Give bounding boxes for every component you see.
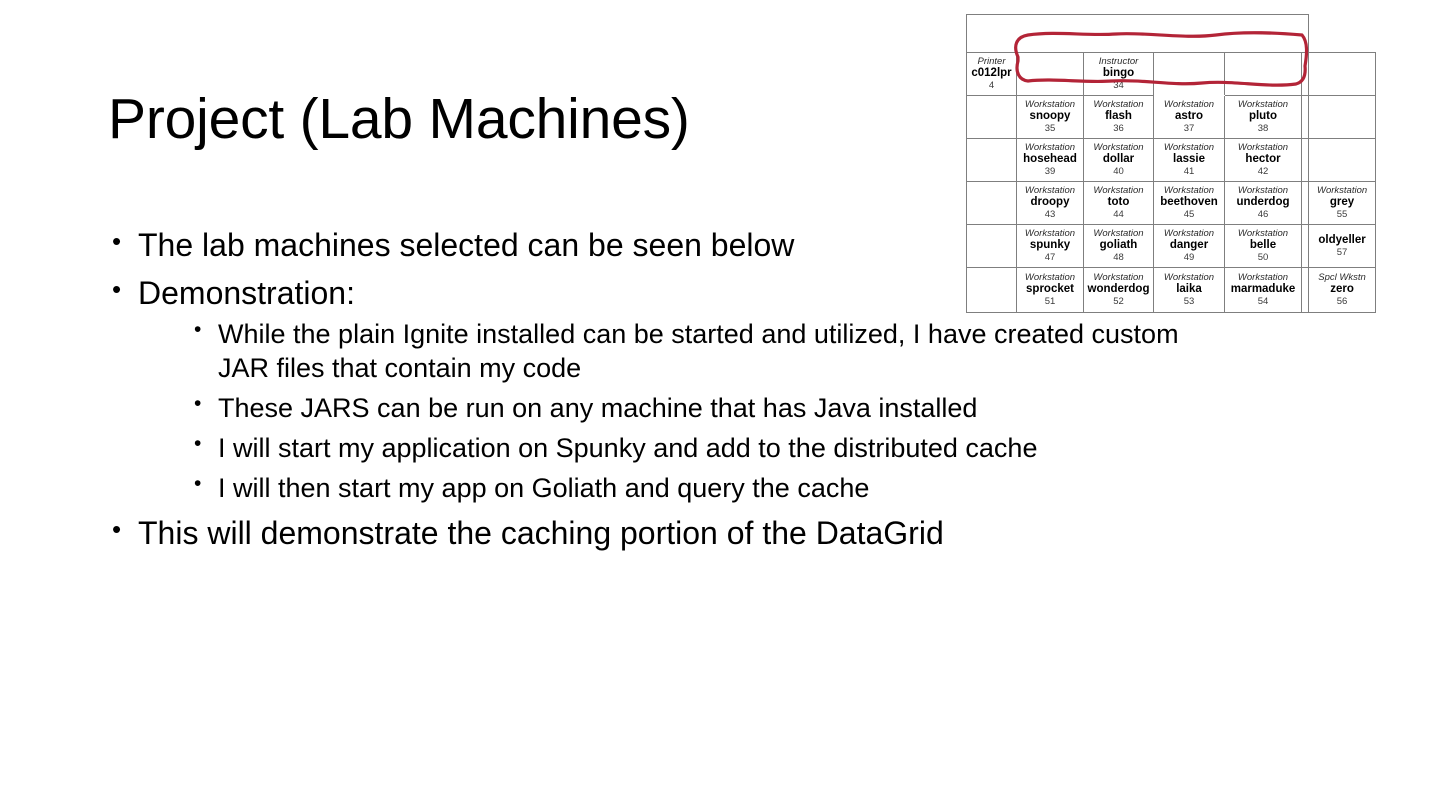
machine-type-label: Workstation bbox=[1226, 185, 1300, 196]
machine-cell[interactable]: Spcl Wkstnzero56 bbox=[1309, 268, 1376, 313]
machine-name: hector bbox=[1226, 153, 1300, 166]
lab-machine-map: Printerc012lpr4Instructorbingo34Workstat… bbox=[966, 14, 1373, 313]
machine-cell-content: Workstationflash36 bbox=[1084, 98, 1153, 136]
machine-cell-content: Workstationdroopy43 bbox=[1017, 184, 1083, 222]
machine-type-label: Workstation bbox=[1310, 185, 1374, 196]
machine-type-label: Workstation bbox=[1155, 185, 1223, 196]
machine-name: sprocket bbox=[1018, 283, 1082, 296]
machine-number: 57 bbox=[1310, 247, 1374, 258]
machine-cell-content: Workstationbeethoven45 bbox=[1154, 184, 1224, 222]
machine-cell-content: oldyeller57 bbox=[1309, 233, 1375, 260]
bullet-text: These JARS can be run on any machine tha… bbox=[218, 393, 977, 423]
machine-type-label: Workstation bbox=[1155, 228, 1223, 239]
machine-number: 39 bbox=[1018, 166, 1082, 177]
machine-name: zero bbox=[1310, 283, 1374, 296]
lab-machine-table-body: Printerc012lpr4Instructorbingo34Workstat… bbox=[967, 15, 1376, 313]
table-row: Workstationhosehead39Workstationdollar40… bbox=[967, 139, 1376, 182]
machine-cell[interactable]: Workstationastro37 bbox=[1154, 96, 1225, 139]
empty-cell bbox=[1302, 53, 1309, 96]
table-row: Printerc012lpr4Instructorbingo34 bbox=[967, 53, 1376, 96]
machine-number: 53 bbox=[1155, 296, 1223, 307]
table-row: Workstationsprocket51Workstationwonderdo… bbox=[967, 268, 1376, 313]
machine-type-label: Workstation bbox=[1085, 142, 1152, 153]
machine-type-label: Workstation bbox=[1018, 228, 1082, 239]
table-row: Workstationsnoopy35Workstationflash36Wor… bbox=[967, 96, 1376, 139]
machine-name: beethoven bbox=[1155, 196, 1223, 209]
empty-cell bbox=[1302, 96, 1309, 139]
machine-type-label: Workstation bbox=[1155, 272, 1223, 283]
machine-cell-content: Workstationhector42 bbox=[1225, 141, 1301, 179]
machine-type-label: Workstation bbox=[1018, 272, 1082, 283]
machine-type-label: Workstation bbox=[1085, 272, 1152, 283]
machine-number: 36 bbox=[1085, 123, 1152, 134]
page-title: Project (Lab Machines) bbox=[108, 88, 690, 152]
machine-cell[interactable]: Workstationsnoopy35 bbox=[1017, 96, 1084, 139]
machine-cell[interactable]: Workstationhosehead39 bbox=[1017, 139, 1084, 182]
machine-name: toto bbox=[1085, 196, 1152, 209]
machine-name: flash bbox=[1085, 110, 1152, 123]
bullet-text: While the plain Ignite installed can be … bbox=[218, 319, 1179, 383]
machine-type-label: Workstation bbox=[1085, 185, 1152, 196]
machine-cell-content: Workstationgoliath48 bbox=[1084, 227, 1153, 265]
machine-cell[interactable]: Workstationgoliath48 bbox=[1084, 225, 1154, 268]
machine-type-label: Workstation bbox=[1018, 142, 1082, 153]
machine-number: 50 bbox=[1226, 252, 1300, 263]
machine-name: underdog bbox=[1226, 196, 1300, 209]
machine-name: hosehead bbox=[1018, 153, 1082, 166]
machine-cell[interactable]: oldyeller57 bbox=[1309, 225, 1376, 268]
machine-cell[interactable]: Workstationunderdog46 bbox=[1225, 182, 1302, 225]
machine-cell[interactable]: Workstationwonderdog52 bbox=[1084, 268, 1154, 313]
empty-cell bbox=[967, 182, 1017, 225]
machine-cell-content: Workstationspunky47 bbox=[1017, 227, 1083, 265]
machine-number: 34 bbox=[1085, 80, 1152, 91]
empty-cell bbox=[967, 15, 1309, 53]
machine-cell[interactable]: Workstationdanger49 bbox=[1154, 225, 1225, 268]
machine-type-label: Spcl Wkstn bbox=[1310, 272, 1374, 283]
machine-name: droopy bbox=[1018, 196, 1082, 209]
machine-cell-content: Workstationastro37 bbox=[1154, 98, 1224, 136]
table-row bbox=[967, 15, 1376, 53]
machine-cell[interactable]: Workstationmarmaduke54 bbox=[1225, 268, 1302, 313]
machine-cell-content: Workstationsprocket51 bbox=[1017, 271, 1083, 309]
machine-type-label: Workstation bbox=[1226, 272, 1300, 283]
empty-cell bbox=[1017, 53, 1084, 96]
empty-cell bbox=[967, 225, 1017, 268]
machine-number: 51 bbox=[1018, 296, 1082, 307]
machine-number: 45 bbox=[1155, 209, 1223, 220]
machine-cell[interactable]: Printerc012lpr4 bbox=[967, 53, 1017, 96]
list-item: I will then start my app on Goliath and … bbox=[190, 471, 1308, 505]
machine-type-label: Workstation bbox=[1018, 99, 1082, 110]
machine-cell-content: Workstationtoto44 bbox=[1084, 184, 1153, 222]
machine-cell[interactable]: Workstationlassie41 bbox=[1154, 139, 1225, 182]
machine-type-label: Workstation bbox=[1085, 99, 1152, 110]
machine-name: danger bbox=[1155, 239, 1223, 252]
machine-number: 55 bbox=[1310, 209, 1374, 220]
machine-number: 52 bbox=[1085, 296, 1152, 307]
machine-type-label: Workstation bbox=[1085, 228, 1152, 239]
machine-number: 44 bbox=[1085, 209, 1152, 220]
machine-cell[interactable]: Workstationpluto38 bbox=[1225, 96, 1302, 139]
machine-name: snoopy bbox=[1018, 110, 1082, 123]
machine-number: 38 bbox=[1226, 123, 1300, 134]
empty-cell bbox=[967, 268, 1017, 313]
machine-number: 56 bbox=[1310, 296, 1374, 307]
table-row: Workstationspunky47Workstationgoliath48W… bbox=[967, 225, 1376, 268]
table-row: Workstationdroopy43Workstationtoto44Work… bbox=[967, 182, 1376, 225]
machine-number: 46 bbox=[1226, 209, 1300, 220]
lab-machine-table: Printerc012lpr4Instructorbingo34Workstat… bbox=[966, 14, 1376, 313]
machine-cell-content: Workstationunderdog46 bbox=[1225, 184, 1301, 222]
machine-cell-content: Workstationhosehead39 bbox=[1017, 141, 1083, 179]
machine-cell[interactable]: Workstationbeethoven45 bbox=[1154, 182, 1225, 225]
machine-cell-content: Workstationbelle50 bbox=[1225, 227, 1301, 265]
list-item: This will demonstrate the caching portio… bbox=[108, 514, 1308, 553]
empty-cell bbox=[1302, 139, 1309, 182]
machine-name: dollar bbox=[1085, 153, 1152, 166]
machine-name: wonderdog bbox=[1085, 283, 1152, 296]
machine-cell-content: Workstationlaika53 bbox=[1154, 271, 1224, 309]
machine-name: lassie bbox=[1155, 153, 1223, 166]
machine-name: c012lpr bbox=[968, 67, 1015, 80]
machine-cell[interactable]: Workstationgrey55 bbox=[1309, 182, 1376, 225]
machine-type-label: Workstation bbox=[1155, 99, 1223, 110]
machine-cell[interactable]: Workstationtoto44 bbox=[1084, 182, 1154, 225]
machine-cell[interactable]: Workstationhector42 bbox=[1225, 139, 1302, 182]
machine-cell[interactable]: Workstationdollar40 bbox=[1084, 139, 1154, 182]
machine-name: belle bbox=[1226, 239, 1300, 252]
machine-name: spunky bbox=[1018, 239, 1082, 252]
empty-cell bbox=[1302, 268, 1309, 313]
machine-cell[interactable]: Workstationflash36 bbox=[1084, 96, 1154, 139]
bullet-text: I will then start my app on Goliath and … bbox=[218, 473, 869, 503]
empty-cell bbox=[1302, 182, 1309, 225]
bullet-text: I will start my application on Spunky an… bbox=[218, 433, 1037, 463]
machine-number: 54 bbox=[1226, 296, 1300, 307]
bullet-list-level2: While the plain Ignite installed can be … bbox=[138, 317, 1308, 505]
machine-cell-content: Workstationsnoopy35 bbox=[1017, 98, 1083, 136]
machine-cell-content: Workstationmarmaduke54 bbox=[1225, 271, 1301, 309]
machine-cell[interactable]: Workstationbelle50 bbox=[1225, 225, 1302, 268]
machine-cell[interactable]: Workstationlaika53 bbox=[1154, 268, 1225, 313]
machine-type-label: Printer bbox=[968, 56, 1015, 67]
machine-type-label: Workstation bbox=[1226, 142, 1300, 153]
machine-number: 35 bbox=[1018, 123, 1082, 134]
machine-type-label: Workstation bbox=[1018, 185, 1082, 196]
machine-type-label: Workstation bbox=[1226, 99, 1300, 110]
list-item: These JARS can be run on any machine tha… bbox=[190, 391, 1308, 425]
bullet-text: This will demonstrate the caching portio… bbox=[138, 514, 1308, 553]
empty-cell bbox=[1309, 96, 1376, 139]
machine-number: 48 bbox=[1085, 252, 1152, 263]
machine-number: 41 bbox=[1155, 166, 1223, 177]
machine-cell[interactable]: Instructorbingo34 bbox=[1084, 53, 1154, 96]
empty-cell bbox=[1309, 139, 1376, 182]
machine-cell[interactable]: Workstationdroopy43 bbox=[1017, 182, 1084, 225]
machine-cell-content: Workstationgrey55 bbox=[1309, 184, 1375, 222]
empty-cell bbox=[967, 96, 1017, 139]
machine-type-label: Instructor bbox=[1085, 56, 1152, 67]
machine-number: 37 bbox=[1155, 123, 1223, 134]
machine-cell-content: Workstationdanger49 bbox=[1154, 227, 1224, 265]
empty-cell bbox=[1225, 53, 1302, 96]
machine-name: grey bbox=[1310, 196, 1374, 209]
machine-name: marmaduke bbox=[1226, 283, 1300, 296]
machine-cell-content: Spcl Wkstnzero56 bbox=[1309, 271, 1375, 309]
machine-cell[interactable]: Workstationspunky47 bbox=[1017, 225, 1084, 268]
machine-cell-content: Workstationpluto38 bbox=[1225, 98, 1301, 136]
machine-name: goliath bbox=[1085, 239, 1152, 252]
machine-name: oldyeller bbox=[1310, 234, 1374, 247]
machine-number: 42 bbox=[1226, 166, 1300, 177]
machine-name: pluto bbox=[1226, 110, 1300, 123]
list-item: I will start my application on Spunky an… bbox=[190, 431, 1308, 465]
empty-cell bbox=[967, 139, 1017, 182]
machine-cell-content: Instructorbingo34 bbox=[1084, 55, 1153, 93]
machine-number: 47 bbox=[1018, 252, 1082, 263]
machine-number: 4 bbox=[968, 80, 1015, 91]
machine-number: 49 bbox=[1155, 252, 1223, 263]
empty-cell bbox=[1302, 225, 1309, 268]
machine-type-label: Workstation bbox=[1226, 228, 1300, 239]
machine-cell-content: Printerc012lpr4 bbox=[967, 55, 1016, 93]
list-item: While the plain Ignite installed can be … bbox=[190, 317, 1235, 385]
machine-cell-content: Workstationlassie41 bbox=[1154, 141, 1224, 179]
machine-name: laika bbox=[1155, 283, 1223, 296]
machine-name: astro bbox=[1155, 110, 1223, 123]
machine-cell-content: Workstationdollar40 bbox=[1084, 141, 1153, 179]
empty-cell bbox=[1309, 53, 1376, 96]
machine-number: 40 bbox=[1085, 166, 1152, 177]
machine-number: 43 bbox=[1018, 209, 1082, 220]
empty-cell bbox=[1154, 53, 1225, 96]
machine-type-label: Workstation bbox=[1155, 142, 1223, 153]
machine-name: bingo bbox=[1085, 67, 1152, 80]
machine-cell[interactable]: Workstationsprocket51 bbox=[1017, 268, 1084, 313]
machine-cell-content: Workstationwonderdog52 bbox=[1084, 271, 1153, 309]
